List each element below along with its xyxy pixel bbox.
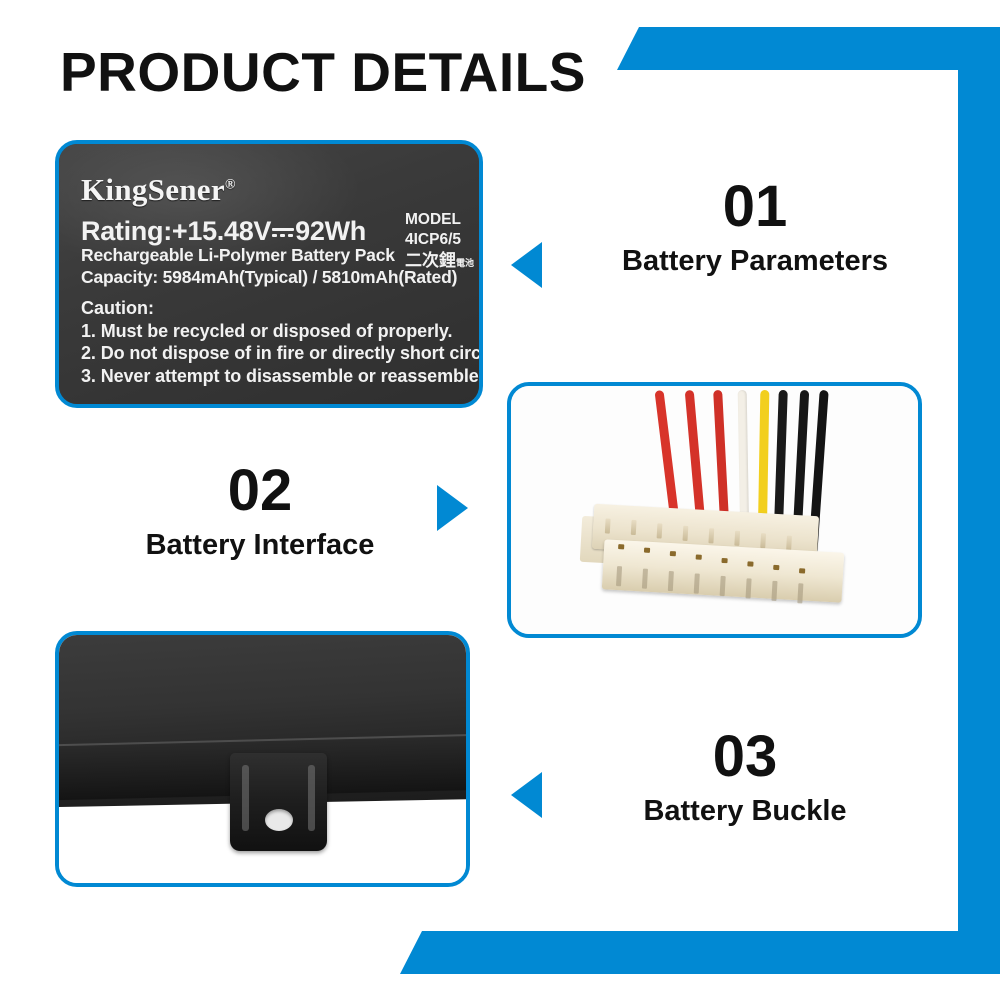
connector-photo-card [507,382,922,638]
section-title-01: Battery Parameters [575,246,935,278]
model-heading: MODEL [405,210,483,230]
section-caption-03: 03 Battery Buckle [570,728,920,828]
caution-item-1: 1. Must be recycled or disposed of prope… [81,320,479,343]
arrow-right-icon-02 [437,485,468,531]
model-cjk-main: 二次鋰 [405,251,456,270]
page-title: PRODUCT DETAILS [60,40,586,104]
frame-bar-top [617,27,1000,70]
rating-prefix: Rating:+15.48V [81,216,271,246]
caution-item-2: 2. Do not dispose of in fire or directly… [81,342,479,365]
arrow-left-icon-01 [511,242,542,288]
model-cjk-small: 電池 [456,258,474,268]
connector-photo [511,386,918,634]
caution-heading: Caution: [81,297,479,320]
section-number-03: 03 [570,728,920,786]
section-number-02: 02 [110,462,410,520]
buckle-tab [230,753,327,851]
buckle-photo-card [55,631,470,887]
arrow-left-icon-03 [511,772,542,818]
frame-bar-right [958,27,1000,974]
brand-logo: KingSener® [81,174,479,205]
buckle-screw-hole [265,809,293,831]
section-caption-02: 02 Battery Interface [110,462,410,562]
trademark-symbol: ® [225,178,236,193]
section-caption-01: 01 Battery Parameters [575,178,935,278]
buckle-photo [59,635,466,883]
model-number: 4ICP6/5 [405,230,483,250]
dc-current-symbol-icon [272,224,294,242]
section-title-02: Battery Interface [110,530,410,562]
frame-bar-bottom [400,931,1000,974]
model-cjk-text: 二次鋰電池 [405,250,483,272]
rating-suffix: 92Wh [295,216,366,246]
model-block: MODEL 4ICP6/5 二次鋰電池 [405,210,483,272]
brand-name: KingSener [81,172,225,207]
battery-label-content: KingSener® Rating:+15.48V92Wh Rechargeab… [59,144,479,404]
battery-label-photo-card: KingSener® Rating:+15.48V92Wh Rechargeab… [55,140,483,408]
section-title-03: Battery Buckle [570,796,920,828]
caution-item-3: 3. Never attempt to disassemble or reass… [81,365,479,388]
section-number-01: 01 [575,178,935,236]
